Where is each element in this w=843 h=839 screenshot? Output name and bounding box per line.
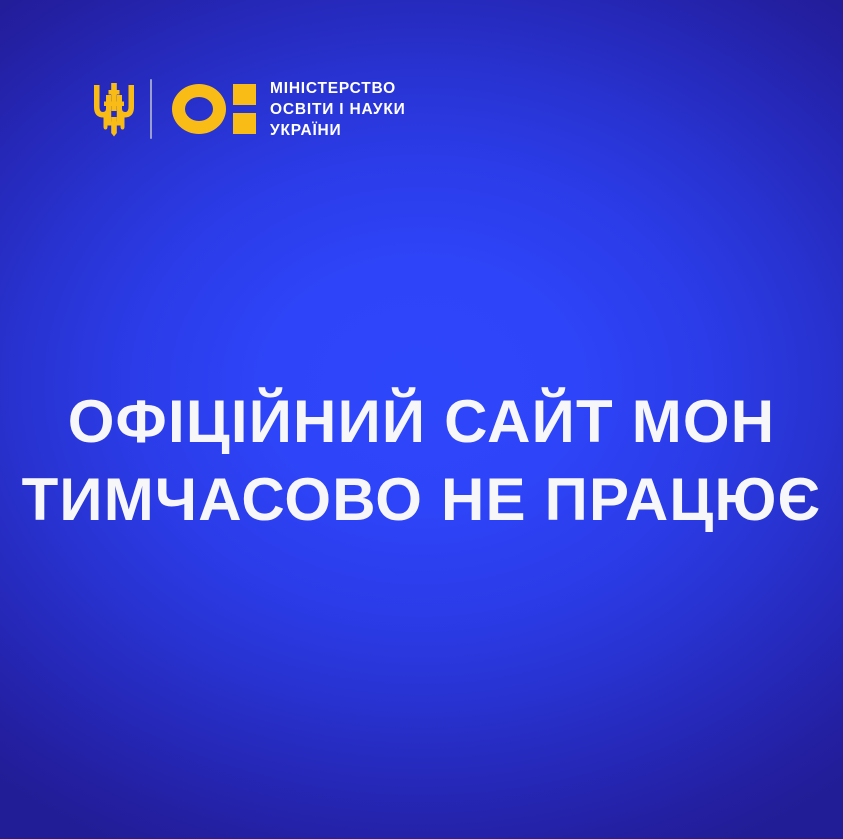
mon-o-colon-mark-icon <box>172 84 256 134</box>
logo-square-top <box>233 84 256 105</box>
error-page: МІНІСТЕРСТВО ОСВІТИ І НАУКИ УКРАЇНИ ОФІЦ… <box>0 0 843 839</box>
ministry-name-line-2: ОСВІТИ І НАУКИ <box>270 99 406 120</box>
outage-message-line-1: ОФІЦІЙНИЙ САЙТ МОН <box>0 383 843 461</box>
tryzub-icon <box>92 81 136 137</box>
ministry-name: МІНІСТЕРСТВО ОСВІТИ І НАУКИ УКРАЇНИ <box>270 78 406 141</box>
outage-message-line-2: ТИМЧАСОВО НЕ ПРАЦЮЄ <box>0 461 843 539</box>
logo-square-bottom <box>233 113 256 134</box>
logo-colon-shape <box>233 84 256 134</box>
vertical-divider-icon <box>150 79 152 139</box>
ministry-name-line-3: УКРАЇНИ <box>270 120 406 141</box>
logo-ring-shape <box>172 84 226 134</box>
ministry-name-line-1: МІНІСТЕРСТВО <box>270 78 406 99</box>
outage-message: ОФІЦІЙНИЙ САЙТ МОН ТИМЧАСОВО НЕ ПРАЦЮЄ <box>0 383 843 539</box>
ministry-logo: МІНІСТЕРСТВО ОСВІТИ І НАУКИ УКРАЇНИ <box>92 78 406 140</box>
